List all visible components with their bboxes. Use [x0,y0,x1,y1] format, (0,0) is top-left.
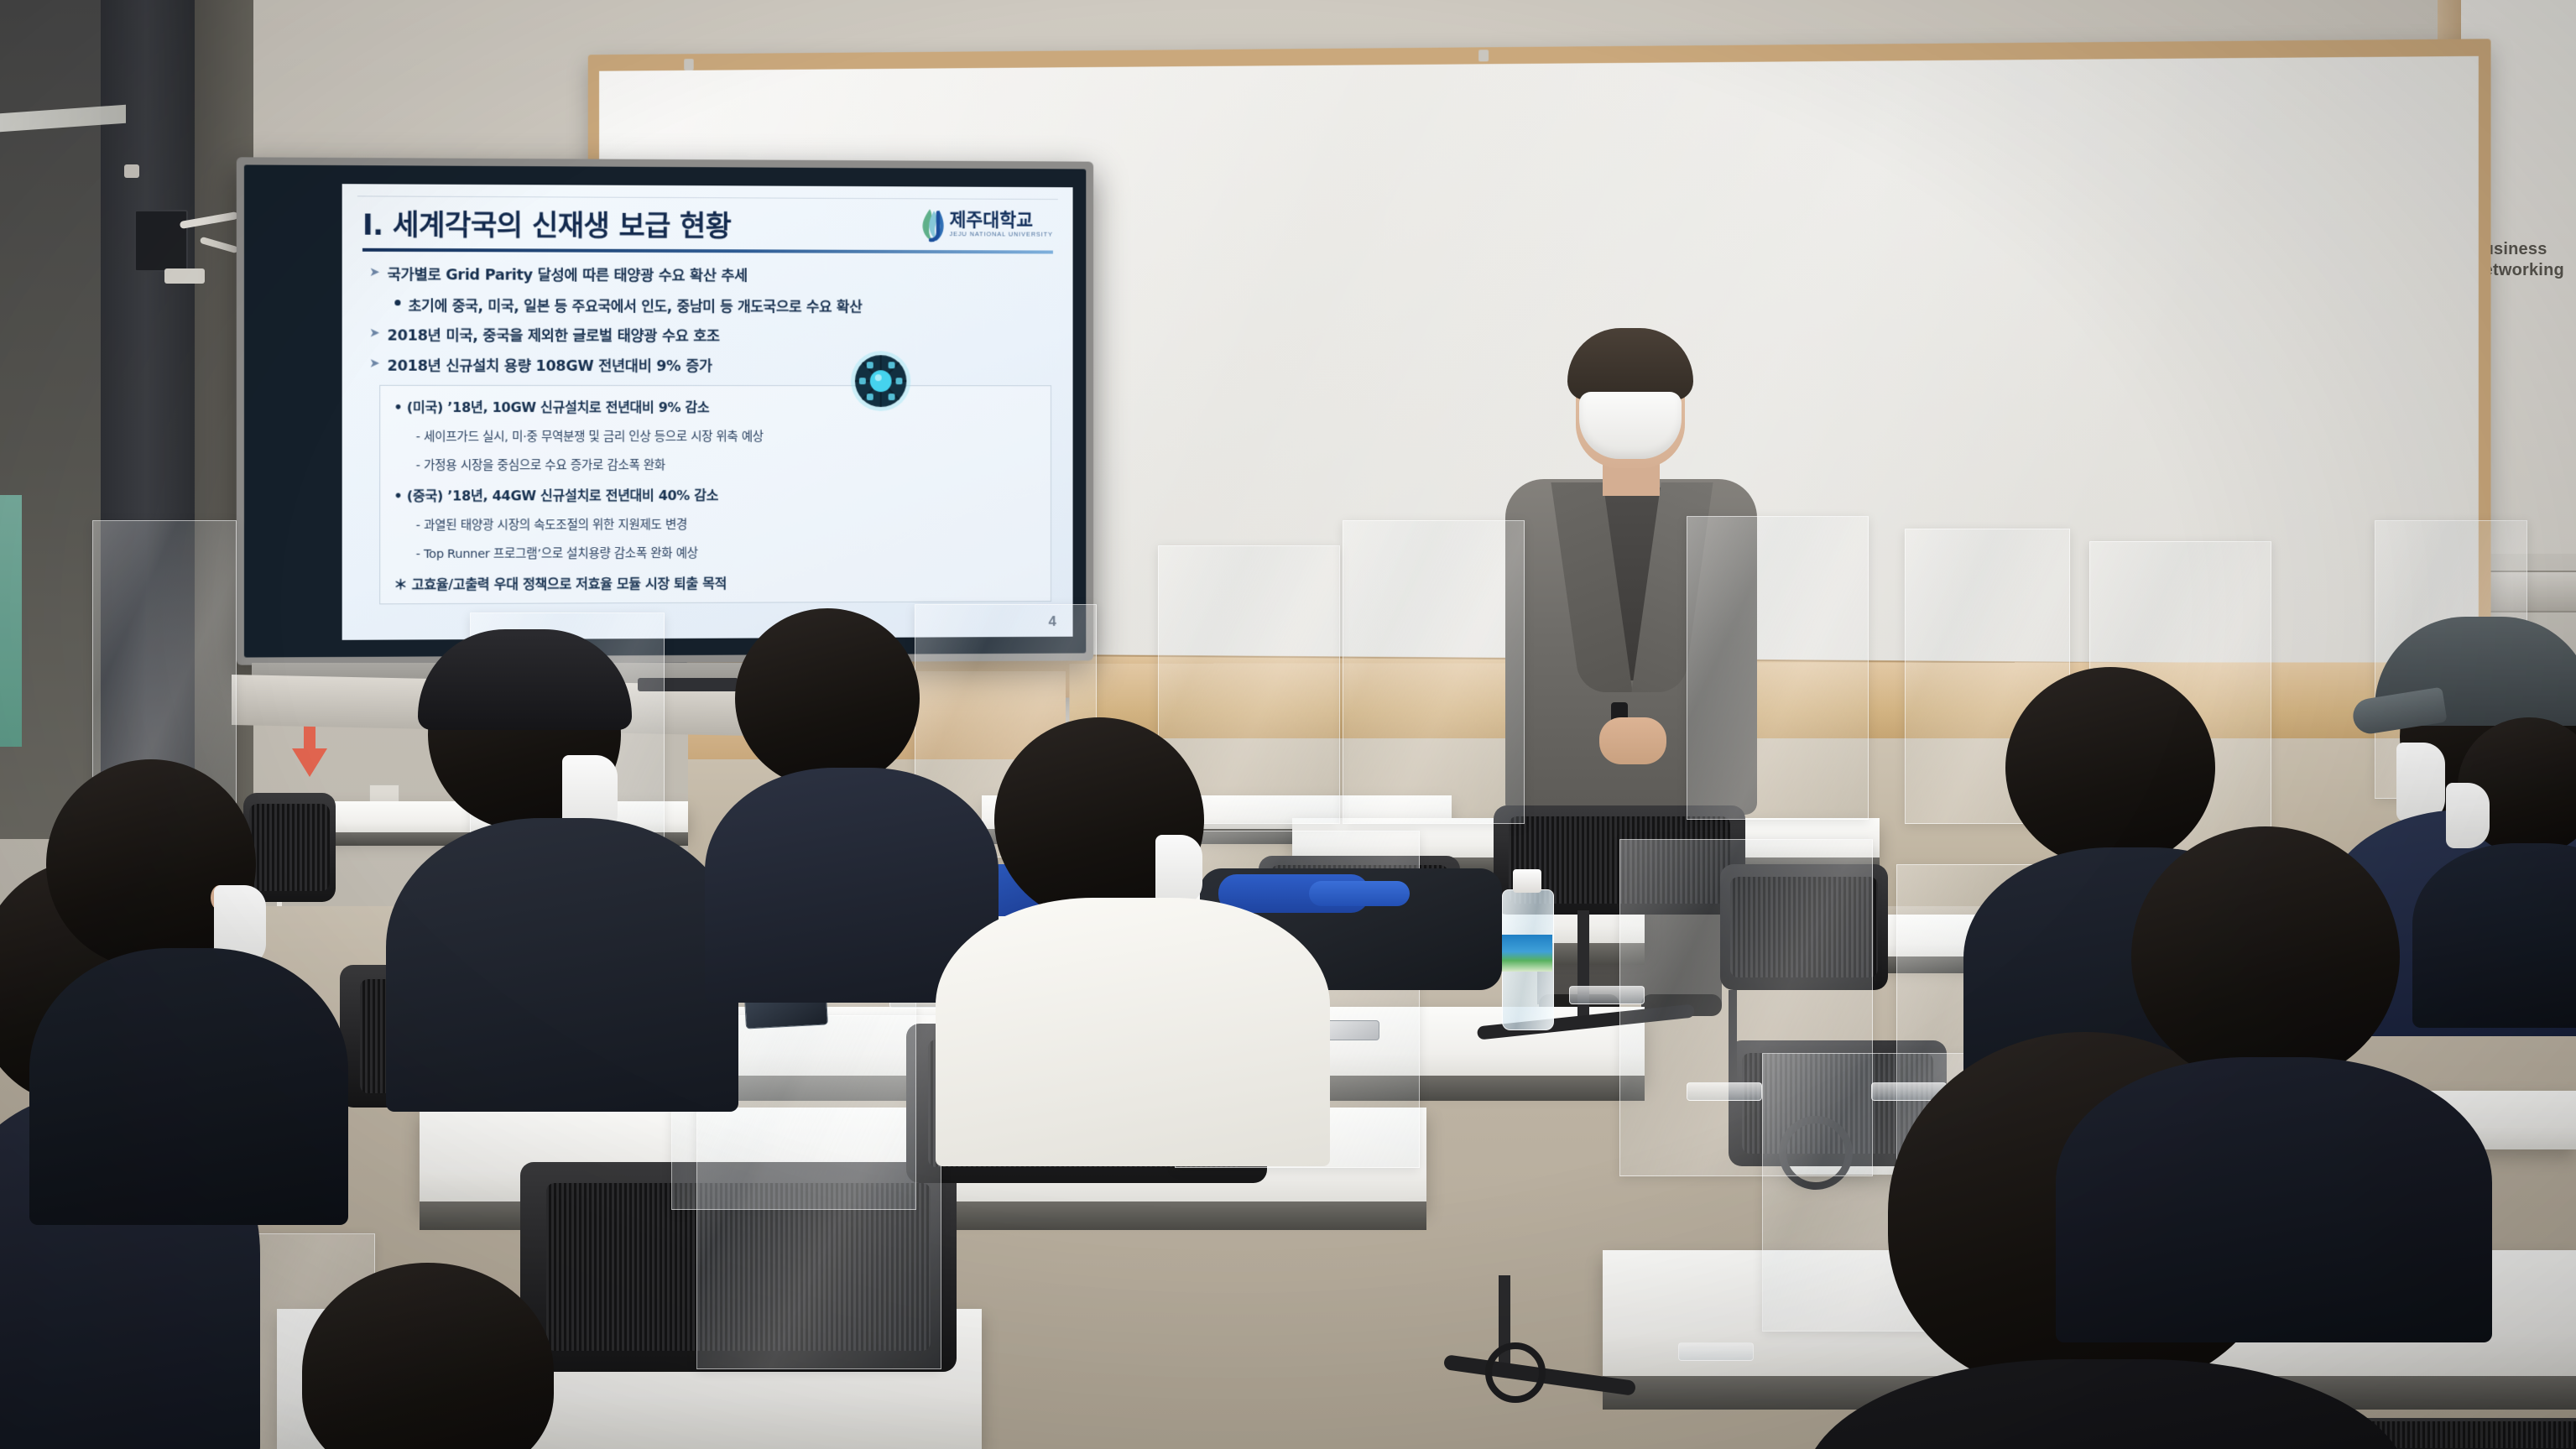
slide-title: I. 세계각국의 신재생 보급 현황 [362,201,731,244]
student [936,717,1322,1154]
jeju-flame-logo [919,207,946,242]
box-text: (중국) ’18년, 44GW 신규설치로 전년대비 40% 감소 [407,487,718,504]
divider-foot [1687,1082,1762,1101]
chevron-icon: ➤ [369,263,379,280]
divider-foot [1678,1342,1754,1361]
green-wall-strip [0,495,22,747]
water-bottle[interactable] [1502,869,1552,1029]
logo-korean-text: 제주대학교 [949,211,1053,230]
bullet-item: ➤ 국가별로 Grid Parity 달성에 따른 태양광 수요 확산 추세 [369,263,1053,286]
face-mask-icon [1155,835,1202,905]
classroom-photo: Business Networking 소화기 [0,0,2576,1449]
student-body [1804,1359,2408,1449]
box-line: • (중국) ’18년, 44GW 신규설치로 전년대비 40% 감소 [394,483,1037,504]
chevron-icon: ➤ [369,355,379,372]
student-body [386,818,738,1112]
student-head [735,608,920,789]
student-body [2056,1057,2492,1342]
cap-icon [418,629,632,730]
bullet-text: 국가별로 Grid Parity 달성에 따른 태양광 수요 확산 추세 [388,263,748,285]
student-body-white-shirt [936,898,1330,1166]
box-text: (미국) ’18년, 10GW 신규설치로 전년대비 9% 감소 [407,399,710,415]
box-subline: - 가정용 시장을 중심으로 수요 증가로 감소폭 완화 [416,456,1038,474]
acrylic-divider [1343,520,1525,824]
box-subline: - Top Runner 프로그램’으로 설치용량 감소폭 완화 예상 [416,543,1038,562]
student [2438,717,2576,994]
presenter-hair [1567,328,1693,400]
whiteboard-clip [684,59,693,70]
box-line: • (미국) ’18년, 10GW 신규설치로 전년대비 9% 감소 [394,396,1037,416]
chevron-icon: ➤ [369,324,379,341]
face-mask-icon [1579,392,1682,459]
divider-foot [1569,986,1645,1004]
slide-bullet-list: ➤ 국가별로 Grid Parity 달성에 따른 태양광 수요 확산 추세 초… [369,263,1053,376]
face-mask-icon [2446,783,2490,848]
bullet-text: 2018년 미국, 중국을 제외한 글로벌 태양광 수요 호조 [388,324,720,346]
title-underline [362,248,1053,254]
acrylic-divider [1687,516,1869,820]
cable-clamp [164,268,205,284]
student-head [2131,826,2400,1087]
wall-junction-box [134,210,188,272]
student [411,629,688,1099]
dot-icon [394,300,400,305]
radial-menu-icon[interactable] [850,350,911,412]
conduit-clip [124,164,139,178]
slide-canvas: I. 세계각국의 신재생 보급 현황 제주대학교 JEJU NATIONAL U… [342,184,1073,640]
bullet-text: 초기에 중국, 미국, 일본 등 주요국에서 인도, 중남미 등 개도국으로 수… [409,294,863,315]
bottle-label [1502,935,1552,972]
display-bezel: I. 세계각국의 신재생 보급 현황 제주대학교 JEJU NATIONAL U… [244,164,1086,657]
box-line: ＊ 고효율/고출력 우대 정책으로 저효율 모듈 시장 퇴출 목적 [394,571,1037,594]
student [2081,826,2442,1296]
presenter-hands [1599,717,1666,764]
university-logo: 제주대학교 JEJU NATIONAL UNIVERSITY [919,207,1053,242]
backpack-strap [1309,881,1410,906]
student-body [2412,843,2576,1028]
student-body [29,948,348,1225]
slide-detail-box: • (미국) ’18년, 10GW 신규설치로 전년대비 9% 감소 - 세이프… [379,385,1051,605]
bullet-item: ➤ 2018년 신규설치 용량 108GW 전년대비 9% 증가 [369,355,1053,377]
logo-english-text: JEJU NATIONAL UNIVERSITY [949,230,1053,237]
bullet-item: ➤ 2018년 미국, 중국을 제외한 글로벌 태양광 수요 호조 [369,324,1053,346]
box-subline: - 과열된 태양광 시장의 속도조절의 위한 지원제도 변경 [416,514,1038,534]
whiteboard-clip [1478,50,1489,61]
slide-header: I. 세계각국의 신재생 보급 현황 제주대학교 JEJU NATIONAL U… [357,195,1058,247]
box-subline: - 세이프가드 실시, 미·중 무역분쟁 및 금리 인상 등으로 시장 위축 예… [416,427,1038,445]
student [46,759,298,1179]
presentation-display[interactable]: I. 세계각국의 신재생 보급 현황 제주대학교 JEJU NATIONAL U… [237,157,1093,665]
student [302,1263,587,1449]
bullet-item: 초기에 중국, 미국, 일본 등 주요국에서 인도, 중남미 등 개도국으로 수… [394,294,1053,316]
bottle-cap [1513,869,1541,893]
student-head [302,1263,554,1449]
chair-caster [1485,1342,1546,1403]
bullet-text: 2018년 신규설치 용량 108GW 전년대비 9% 증가 [388,355,712,376]
